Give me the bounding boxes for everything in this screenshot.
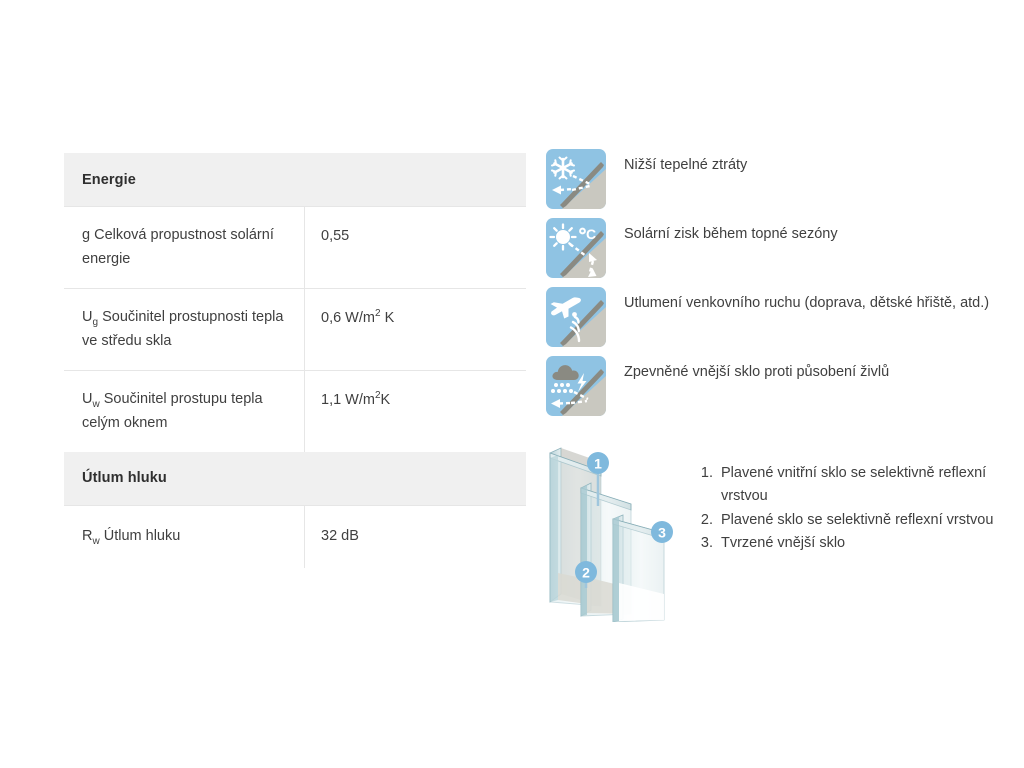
storm-cloud-icon (546, 356, 606, 416)
value-text: 0,55 (321, 228, 349, 244)
value-text: 1,1 W/m (321, 392, 375, 408)
glazing-legend-list: Plavené vnitřní sklo se selektivně refle… (697, 462, 1024, 556)
table-cell-value: 32 dB (305, 506, 526, 568)
list-item-label: Zpevněné vnější sklo proti působení živl… (624, 356, 889, 383)
label-text: Celková propustnost solární energie (82, 227, 274, 267)
label-subscript: g (92, 317, 98, 328)
table-cell-label: Uw Součinitel prostupu tepla celým oknem (64, 371, 305, 452)
table-row: Rw Útlum hluku 32 dB (64, 505, 526, 568)
svg-text:3: 3 (658, 525, 666, 541)
section-title: Energie (82, 172, 136, 188)
table-cell-label: Ug Součinitel prostupnosti tepla ve stře… (64, 289, 305, 370)
list-item-label: Nižší tepelné ztráty (624, 149, 747, 176)
list-item-label: Utlumení venkovního ruchu (doprava, děts… (624, 287, 989, 314)
sun-temperature-icon: C (546, 218, 606, 278)
callout-badge-3: 3 (651, 521, 673, 543)
list-item: Plavené sklo se selektivně reflexní vrst… (717, 509, 1024, 532)
list-item: Utlumení venkovního ruchu (doprava, děts… (546, 287, 1016, 347)
label-text: Součinitel prostupnosti tepla ve středu … (82, 309, 283, 349)
label-text: Útlum hluku (104, 528, 181, 544)
value-suffix: K (381, 392, 391, 408)
value-text: 32 dB (321, 528, 359, 544)
benefit-list: Nižší tepelné ztráty C (546, 149, 1016, 425)
label-symbol: g (82, 227, 90, 243)
list-item: Plavené vnitřní sklo se selektivně refle… (717, 462, 1024, 509)
list-item: Zpevněné vnější sklo proti působení živl… (546, 356, 1016, 416)
svg-text:2: 2 (582, 565, 590, 581)
label-text: Součinitel prostupu tepla celým oknem (82, 391, 263, 431)
table-cell-value: 1,1 W/m2K (305, 371, 526, 452)
glazing-cross-section-diagram: 1 2 3 (534, 442, 700, 622)
label-symbol: U (82, 391, 92, 407)
list-item: Tvrzené vnější sklo (717, 532, 1024, 555)
table-row: Ug Součinitel prostupnosti tepla ve stře… (64, 288, 526, 370)
table-section-header-energie: Energie (64, 153, 526, 206)
label-subscript: w (92, 399, 99, 410)
glazing-legend: Plavené vnitřní sklo se selektivně refle… (697, 462, 1024, 556)
table-cell-value: 0,55 (305, 207, 526, 288)
label-symbol: U (82, 309, 92, 325)
table-row: g Celková propustnost solární energie 0,… (64, 206, 526, 288)
label-symbol: R (82, 528, 92, 544)
table-cell-value: 0,6 W/m2 K (305, 289, 526, 370)
table-cell-label: Rw Útlum hluku (64, 506, 305, 568)
callout-badge-1: 1 (587, 452, 609, 474)
specification-table: Energie g Celková propustnost solární en… (64, 153, 526, 568)
list-item: C Solární zisk během topné sezóny (546, 218, 1016, 278)
svg-text:1: 1 (594, 456, 602, 472)
value-text: 0,6 W/m (321, 310, 375, 326)
table-row: Uw Součinitel prostupu tepla celým oknem… (64, 370, 526, 452)
callout-badge-2: 2 (575, 561, 597, 583)
list-item-label: Solární zisk během topné sezóny (624, 218, 838, 245)
list-item: Nižší tepelné ztráty (546, 149, 1016, 209)
value-suffix: K (381, 310, 395, 326)
svg-text:C: C (586, 226, 596, 242)
table-section-header-utlum-hluku: Útlum hluku (64, 452, 526, 505)
table-cell-label: g Celková propustnost solární energie (64, 207, 305, 288)
snowflake-heat-loss-icon (546, 149, 606, 209)
label-subscript: w (92, 535, 99, 546)
section-title: Útlum hluku (82, 470, 167, 486)
airplane-noise-icon (546, 287, 606, 347)
